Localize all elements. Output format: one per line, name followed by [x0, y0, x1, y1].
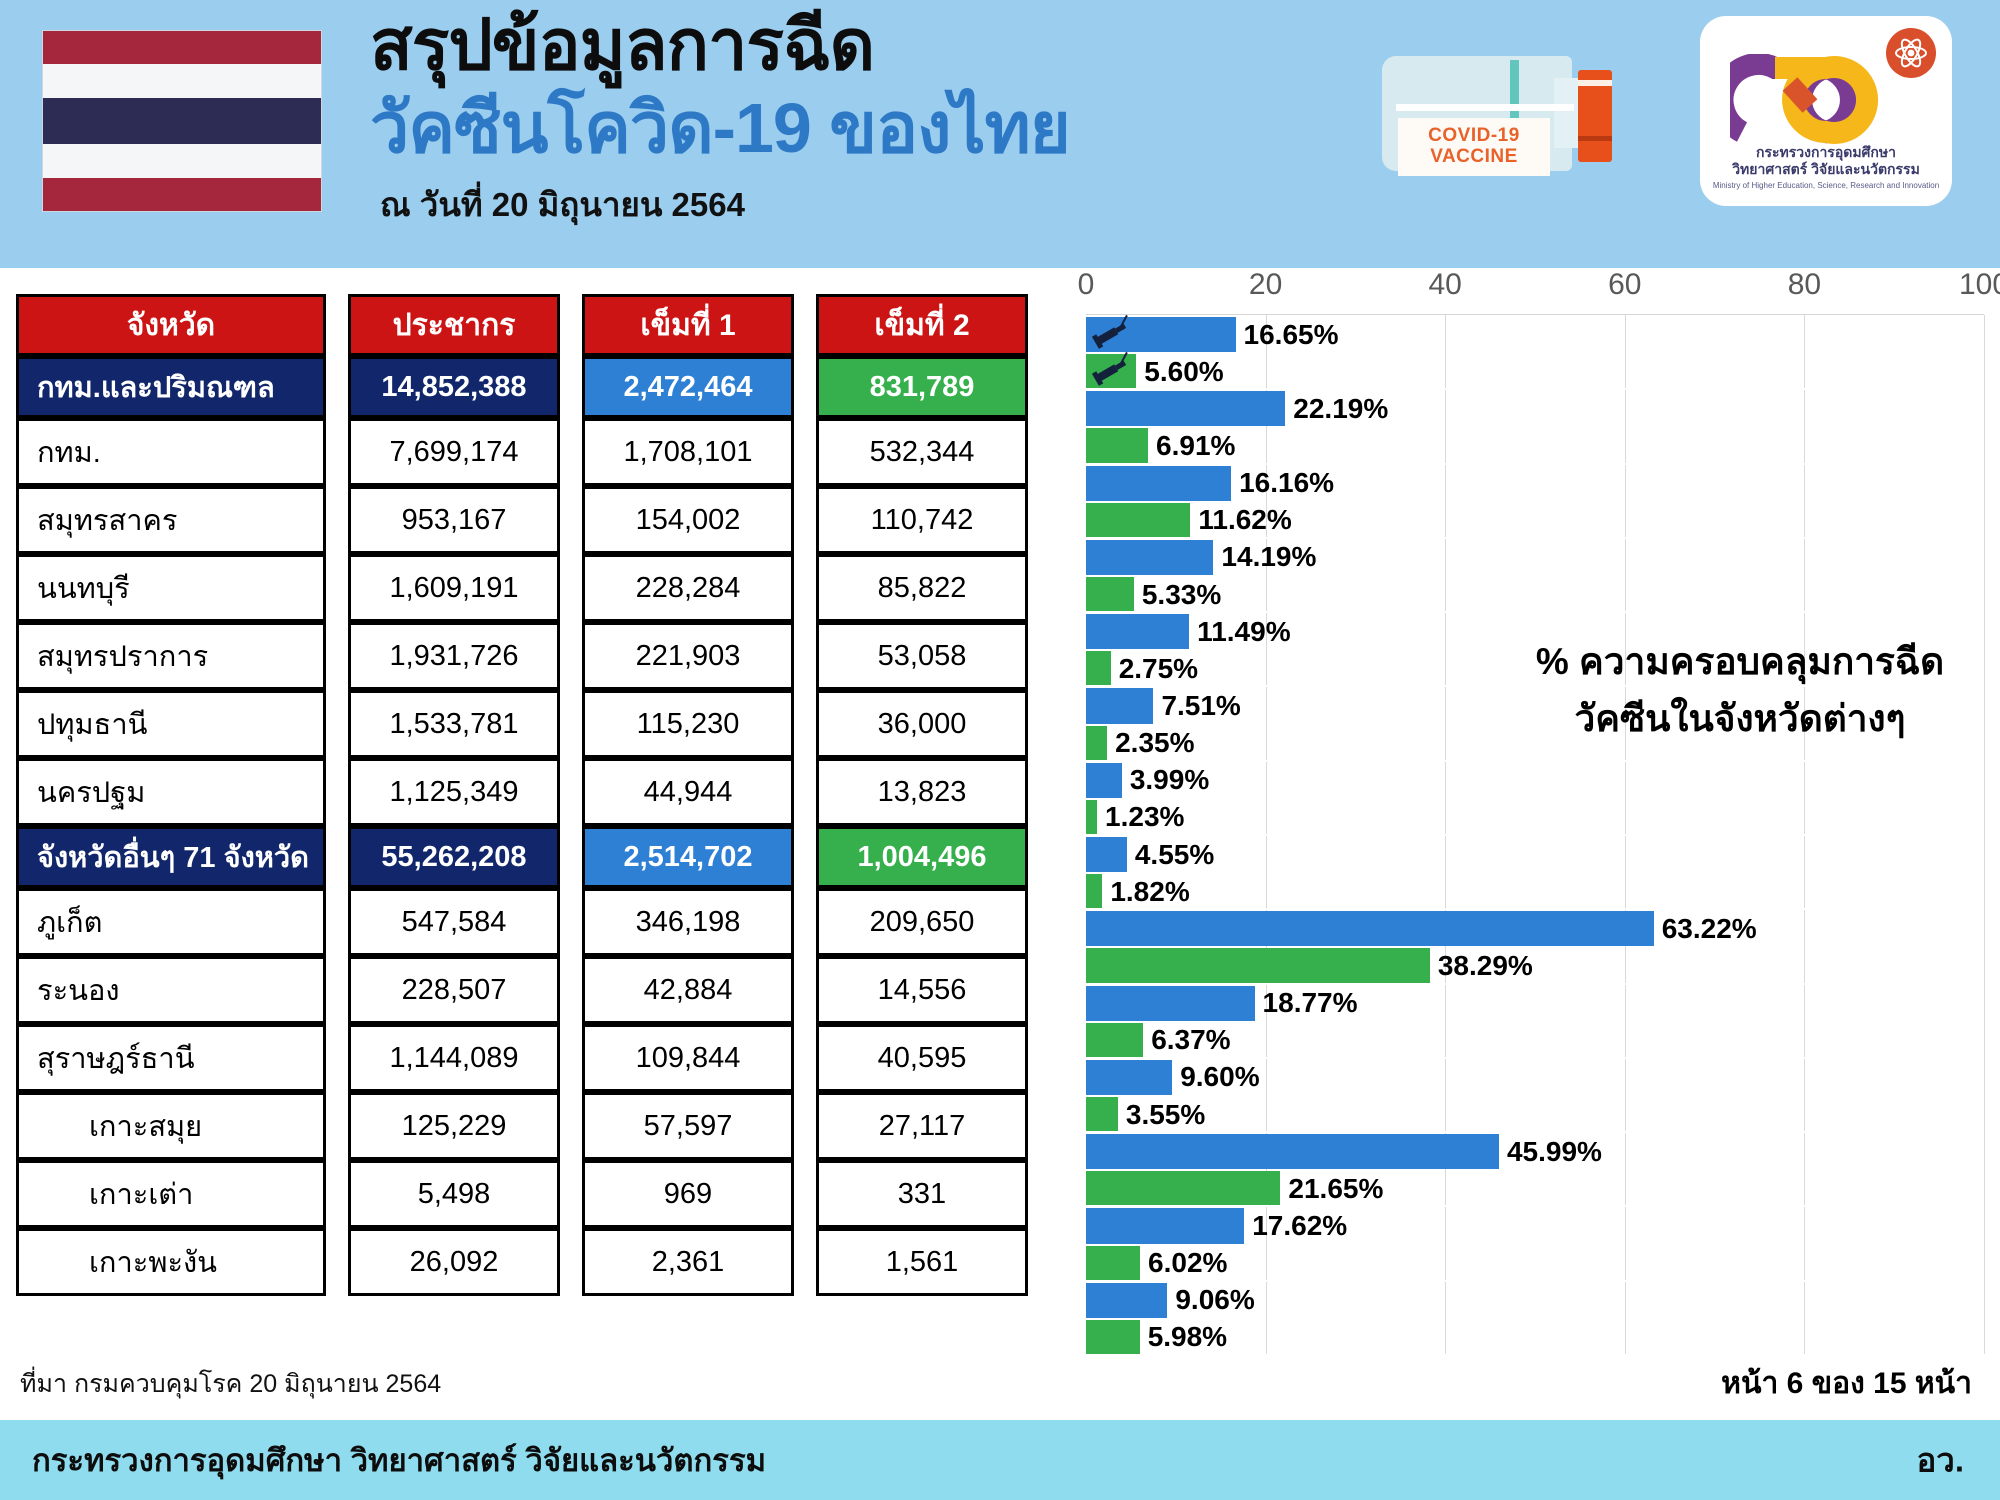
table-row: เกาะเต่า5,498969331 — [16, 1160, 1078, 1228]
chart-annotation-line1: % ความครอบคลุมการฉีด — [1536, 641, 1944, 682]
bar-group-11-dose2: 21.65% — [1086, 1171, 1984, 1206]
header-banner: สรุปข้อมูลการฉีด วัคซีนโควิด-19 ของไทย ณ… — [0, 0, 2000, 268]
x-axis-tick-80: 80 — [1788, 268, 1821, 302]
table-row: ระนอง228,50742,88414,556 — [16, 956, 1078, 1024]
bar-dose1 — [1086, 1208, 1244, 1243]
bar-value-label: 2.35% — [1107, 727, 1194, 759]
bar-group-separator — [1086, 1131, 1984, 1133]
bar-value-label: 5.60% — [1136, 356, 1223, 388]
main-content: จังหวัด ประชากร เข็มที่ 1 เข็มที่ 2 กทม.… — [0, 268, 2000, 1420]
bar-value-label: 16.65% — [1236, 319, 1339, 351]
bar-group-separator — [1086, 1354, 1984, 1356]
logo-caption-en: Ministry of Higher Education, Science, R… — [1700, 181, 1952, 191]
report-date: ณ วันที่ 20 มิถุนายน 2564 — [380, 178, 1370, 231]
infographic-page: สรุปข้อมูลการฉีด วัคซีนโควิด-19 ของไทย ณ… — [0, 0, 2000, 1500]
bar-dose2 — [1086, 503, 1190, 538]
column-header-dose1: เข็มที่ 1 — [582, 294, 794, 356]
bar-group-separator — [1086, 983, 1984, 985]
footer-ministry-name: กระทรวงการอุดมศึกษา วิทยาศาสตร์ วิจัยและ… — [32, 1435, 766, 1485]
bar-group-0-dose2: 5.60% — [1086, 354, 1984, 389]
cell-population: 26,092 — [348, 1228, 560, 1296]
cell-population: 55,262,208 — [348, 826, 560, 888]
cell-province: นครปฐม — [16, 758, 326, 826]
cell-dose2: 53,058 — [816, 622, 1028, 690]
bar-value-label: 45.99% — [1499, 1136, 1602, 1168]
bar-dose2 — [1086, 1171, 1280, 1206]
cell-province: นนทบุรี — [16, 554, 326, 622]
bar-value-label: 21.65% — [1280, 1173, 1383, 1205]
cell-dose1: 115,230 — [582, 690, 794, 758]
bar-group-9-dose2: 6.37% — [1086, 1023, 1984, 1058]
table-row: สุราษฎร์ธานี1,144,089109,84440,595 — [16, 1024, 1078, 1092]
page-number: หน้า 6 ของ 15 หน้า — [1721, 1360, 1972, 1407]
bar-group-separator — [1086, 908, 1984, 910]
bar-value-label: 5.98% — [1140, 1321, 1227, 1353]
bar-group-6-dose2: 1.23% — [1086, 800, 1984, 835]
bar-dose1 — [1086, 688, 1153, 723]
bar-group-1-dose1: 22.19% — [1086, 391, 1984, 426]
gridline-100 — [1984, 315, 1985, 1354]
cell-dose1: 969 — [582, 1160, 794, 1228]
bar-group-13-dose1: 9.06% — [1086, 1283, 1984, 1318]
table-row: ปทุมธานี1,533,781115,23036,000 — [16, 690, 1078, 758]
cell-population: 228,507 — [348, 956, 560, 1024]
bar-value-label: 11.62% — [1190, 504, 1291, 536]
bar-group-separator — [1086, 537, 1984, 539]
bar-group-2-dose1: 16.16% — [1086, 466, 1984, 501]
bar-dose2 — [1086, 1023, 1143, 1058]
bar-group-2-dose2: 11.62% — [1086, 503, 1984, 538]
bar-group-0-dose1: 16.65% — [1086, 317, 1984, 352]
table-header-row: จังหวัด ประชากร เข็มที่ 1 เข็มที่ 2 — [16, 294, 1078, 356]
cell-population: 1,931,726 — [348, 622, 560, 690]
bar-value-label: 18.77% — [1255, 987, 1358, 1019]
table-row: เกาะสมุย125,22957,59727,117 — [16, 1092, 1078, 1160]
cell-dose2: 831,789 — [816, 356, 1028, 418]
table-group-row: กทม.และปริมณฑล14,852,3882,472,464831,789 — [16, 356, 1078, 418]
bar-value-label: 14.19% — [1213, 541, 1316, 573]
page-title-line1: สรุปข้อมูลการฉีด — [370, 10, 1370, 80]
bar-dose1 — [1086, 986, 1255, 1021]
cell-dose1: 2,472,464 — [582, 356, 794, 418]
bar-value-label: 9.06% — [1167, 1284, 1254, 1316]
column-header-dose2: เข็มที่ 2 — [816, 294, 1028, 356]
bar-dose1 — [1086, 614, 1189, 649]
bar-group-12-dose2: 6.02% — [1086, 1246, 1984, 1281]
bar-group-6-dose1: 3.99% — [1086, 763, 1984, 798]
bar-dose2 — [1086, 800, 1097, 835]
chart-annotation: % ความครอบคลุมการฉีด วัคซีนในจังหวัดต่าง… — [1490, 633, 1990, 748]
title-block: สรุปข้อมูลการฉีด วัคซีนโควิด-19 ของไทย ณ… — [370, 10, 1370, 231]
vial-label-line1: COVID-19 — [1428, 126, 1520, 147]
cell-province: ภูเก็ต — [16, 888, 326, 956]
bar-value-label: 3.99% — [1122, 764, 1209, 796]
cell-dose2: 36,000 — [816, 690, 1028, 758]
bar-dose1 — [1086, 1060, 1172, 1095]
bar-group-separator — [1086, 388, 1984, 390]
bar-group-12-dose1: 17.62% — [1086, 1208, 1984, 1243]
bar-dose2 — [1086, 1246, 1140, 1281]
cell-dose2: 27,117 — [816, 1092, 1028, 1160]
coverage-bar-chart: 020406080100 16.65%5.60%22.19%6.91%16.16… — [1086, 268, 1984, 1418]
logo-caption: กระทรวงการอุดมศึกษา วิทยาศาสตร์ วิจัยและ… — [1700, 144, 1952, 190]
vaccine-vial-icon: COVID-19 VACCINE — [1382, 38, 1622, 188]
bar-dose1 — [1086, 763, 1122, 798]
bar-value-label: 6.37% — [1143, 1024, 1230, 1056]
cell-population: 1,533,781 — [348, 690, 560, 758]
x-axis-tick-0: 0 — [1078, 268, 1095, 302]
cell-province: กทม.และปริมณฑล — [16, 356, 326, 418]
bar-group-9-dose1: 18.77% — [1086, 986, 1984, 1021]
cell-dose2: 13,823 — [816, 758, 1028, 826]
x-axis-tick-20: 20 — [1249, 268, 1282, 302]
cell-dose1: 1,708,101 — [582, 418, 794, 486]
bar-group-7-dose1: 4.55% — [1086, 837, 1984, 872]
bar-group-separator — [1086, 611, 1984, 613]
bar-value-label: 63.22% — [1654, 913, 1757, 945]
bar-value-label: 6.02% — [1140, 1247, 1227, 1279]
bar-dose1 — [1086, 1134, 1499, 1169]
table-group-row: จังหวัดอื่นๆ 71 จังหวัด55,262,2082,514,7… — [16, 826, 1078, 888]
bar-group-separator — [1086, 1057, 1984, 1059]
table-row: นนทบุรี1,609,191228,28485,822 — [16, 554, 1078, 622]
cell-dose1: 346,198 — [582, 888, 794, 956]
table-row: สมุทรสาคร953,167154,002110,742 — [16, 486, 1078, 554]
cell-population: 5,498 — [348, 1160, 560, 1228]
page-title-line2: วัคซีนโควิด-19 ของไทย — [370, 92, 1370, 166]
cell-province: กทม. — [16, 418, 326, 486]
table-row: ภูเก็ต547,584346,198209,650 — [16, 888, 1078, 956]
cell-dose1: 2,514,702 — [582, 826, 794, 888]
table-row: กทม.7,699,1741,708,101532,344 — [16, 418, 1078, 486]
bar-dose2 — [1086, 948, 1430, 983]
footer-bar: กระทรวงการอุดมศึกษา วิทยาศาสตร์ วิจัยและ… — [0, 1420, 2000, 1500]
cell-dose1: 221,903 — [582, 622, 794, 690]
chart-bars: 16.65%5.60%22.19%6.91%16.16%11.62%14.19%… — [1086, 315, 1984, 1354]
cell-province: สมุทรปราการ — [16, 622, 326, 690]
chart-x-axis: 020406080100 — [1086, 268, 1984, 312]
bar-value-label: 6.91% — [1148, 430, 1235, 462]
bar-group-3-dose2: 5.33% — [1086, 577, 1984, 612]
table-row: นครปฐม1,125,34944,94413,823 — [16, 758, 1078, 826]
bar-group-13-dose2: 5.98% — [1086, 1320, 1984, 1355]
cell-dose1: 57,597 — [582, 1092, 794, 1160]
infinity-logo-icon — [1730, 54, 1920, 146]
bar-dose1 — [1086, 391, 1285, 426]
source-note: ที่มา กรมควบคุมโรค 20 มิถุนายน 2564 — [20, 1364, 441, 1404]
logo-caption-line2: วิทยาศาสตร์ วิจัยและนวัตกรรม — [1732, 161, 1920, 177]
bar-group-1-dose2: 6.91% — [1086, 428, 1984, 463]
column-header-population: ประชากร — [348, 294, 560, 356]
bar-value-label: 5.33% — [1134, 579, 1221, 611]
cell-dose2: 331 — [816, 1160, 1028, 1228]
cell-dose2: 40,595 — [816, 1024, 1028, 1092]
cell-province: จังหวัดอื่นๆ 71 จังหวัด — [16, 826, 326, 888]
table-row: เกาะพะงัน26,0922,3611,561 — [16, 1228, 1078, 1296]
cell-dose1: 228,284 — [582, 554, 794, 622]
bar-value-label: 17.62% — [1244, 1210, 1347, 1242]
bar-group-separator — [1086, 1280, 1984, 1282]
cell-dose2: 1,561 — [816, 1228, 1028, 1296]
bar-value-label: 7.51% — [1153, 690, 1240, 722]
vial-label-line2: VACCINE — [1430, 147, 1518, 168]
cell-dose2: 532,344 — [816, 418, 1028, 486]
table-body: กทม.และปริมณฑล14,852,3882,472,464831,789… — [16, 356, 1078, 1296]
cell-population: 953,167 — [348, 486, 560, 554]
cell-dose2: 14,556 — [816, 956, 1028, 1024]
cell-population: 1,125,349 — [348, 758, 560, 826]
logo-caption-line1: กระทรวงการอุดมศึกษา — [1756, 144, 1896, 160]
bar-dose1 — [1086, 466, 1231, 501]
cell-dose2: 110,742 — [816, 486, 1028, 554]
x-axis-tick-60: 60 — [1608, 268, 1641, 302]
cell-population: 125,229 — [348, 1092, 560, 1160]
bar-value-label: 1.82% — [1102, 876, 1189, 908]
cell-province: ระนอง — [16, 956, 326, 1024]
bar-dose2 — [1086, 726, 1107, 761]
bar-dose2 — [1086, 577, 1134, 612]
ministry-logo: กระทรวงการอุดมศึกษา วิทยาศาสตร์ วิจัยและ… — [1700, 16, 1952, 206]
cell-dose1: 109,844 — [582, 1024, 794, 1092]
bar-value-label: 16.16% — [1231, 467, 1334, 499]
footer-abbr: อว. — [1916, 1434, 1964, 1487]
bar-dose2 — [1086, 1097, 1118, 1132]
bar-group-separator — [1086, 760, 1984, 762]
bar-dose2 — [1086, 428, 1148, 463]
cell-dose1: 44,944 — [582, 758, 794, 826]
bar-value-label: 3.55% — [1118, 1099, 1205, 1131]
cell-population: 1,609,191 — [348, 554, 560, 622]
cell-province: เกาะพะงัน — [16, 1228, 326, 1296]
cell-province: เกาะเต่า — [16, 1160, 326, 1228]
bar-dose1 — [1086, 540, 1213, 575]
province-vaccination-table: จังหวัด ประชากร เข็มที่ 1 เข็มที่ 2 กทม.… — [16, 294, 1078, 1296]
bar-group-3-dose1: 14.19% — [1086, 540, 1984, 575]
bar-group-separator — [1086, 463, 1984, 465]
cell-dose2: 1,004,496 — [816, 826, 1028, 888]
thai-flag-icon — [42, 30, 322, 212]
column-header-province: จังหวัด — [16, 294, 326, 356]
bar-value-label: 22.19% — [1285, 393, 1388, 425]
bar-value-label: 2.75% — [1111, 653, 1198, 685]
cell-province: เกาะสมุย — [16, 1092, 326, 1160]
bar-group-11-dose1: 45.99% — [1086, 1134, 1984, 1169]
bar-group-10-dose2: 3.55% — [1086, 1097, 1984, 1132]
cell-population: 7,699,174 — [348, 418, 560, 486]
bar-group-10-dose1: 9.60% — [1086, 1060, 1984, 1095]
cell-province: สุราษฎร์ธานี — [16, 1024, 326, 1092]
chart-plot-area: 16.65%5.60%22.19%6.91%16.16%11.62%14.19%… — [1086, 314, 1984, 1354]
bar-dose1 — [1086, 837, 1127, 872]
bar-group-separator — [1086, 834, 1984, 836]
cell-dose1: 154,002 — [582, 486, 794, 554]
bar-value-label: 4.55% — [1127, 839, 1214, 871]
cell-dose2: 209,650 — [816, 888, 1028, 956]
cell-dose2: 85,822 — [816, 554, 1028, 622]
bar-dose2 — [1086, 1320, 1140, 1355]
vial-label: COVID-19 VACCINE — [1398, 118, 1550, 176]
bar-group-7-dose2: 1.82% — [1086, 874, 1984, 909]
cell-province: สมุทรสาคร — [16, 486, 326, 554]
bar-dose1 — [1086, 1283, 1167, 1318]
cell-population: 547,584 — [348, 888, 560, 956]
bar-value-label: 11.49% — [1189, 616, 1290, 648]
chart-annotation-line2: วัคซีนในจังหวัดต่างๆ — [1575, 698, 1906, 739]
bar-group-8-dose2: 38.29% — [1086, 948, 1984, 983]
bar-group-separator — [1086, 1205, 1984, 1207]
x-axis-tick-40: 40 — [1429, 268, 1462, 302]
bar-dose2 — [1086, 651, 1111, 686]
cell-dose1: 42,884 — [582, 956, 794, 1024]
cell-province: ปทุมธานี — [16, 690, 326, 758]
bar-value-label: 9.60% — [1172, 1061, 1259, 1093]
bar-value-label: 38.29% — [1430, 950, 1533, 982]
bar-group-8-dose1: 63.22% — [1086, 911, 1984, 946]
x-axis-tick-100: 100 — [1959, 268, 2000, 302]
cell-dose1: 2,361 — [582, 1228, 794, 1296]
bar-dose2 — [1086, 874, 1102, 909]
cell-population: 1,144,089 — [348, 1024, 560, 1092]
table-row: สมุทรปราการ1,931,726221,90353,058 — [16, 622, 1078, 690]
cell-population: 14,852,388 — [348, 356, 560, 418]
bar-dose1 — [1086, 911, 1654, 946]
bar-value-label: 1.23% — [1097, 801, 1184, 833]
